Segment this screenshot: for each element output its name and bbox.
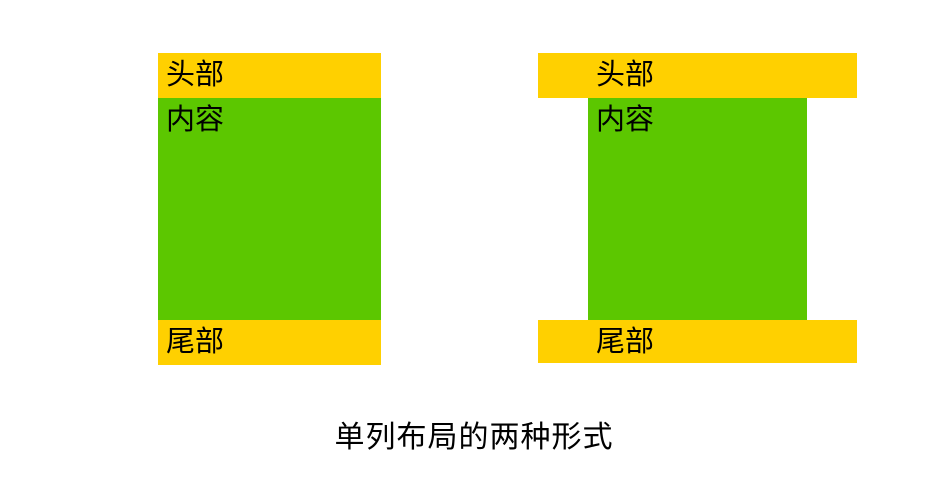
diagram-b-header-label: 头部 [596,57,654,91]
diagram-b-footer-label: 尾部 [596,324,654,358]
diagram-a-header-label: 头部 [166,57,224,91]
diagram-a-footer-block: 尾部 [158,320,381,365]
diagram-b-content-label: 内容 [596,102,654,136]
layout-diagram-flush-single-column: 头部 内容 尾部 [158,53,381,365]
diagram-a-content-label: 内容 [166,102,224,136]
diagram-b-content-block: 内容 [588,98,807,320]
diagram-b-footer-block: 尾部 [538,320,857,363]
diagram-canvas: 头部 内容 尾部 头部 内容 尾部 单列布局的两种形式 [0,0,948,488]
diagram-a-content-block: 内容 [158,98,381,320]
layout-diagram-fullbleed-header-footer: 头部 内容 尾部 [538,53,857,363]
diagram-a-footer-label: 尾部 [166,324,224,358]
figure-caption: 单列布局的两种形式 [0,418,948,458]
diagram-b-header-block: 头部 [538,53,857,98]
diagram-a-header-block: 头部 [158,53,381,98]
